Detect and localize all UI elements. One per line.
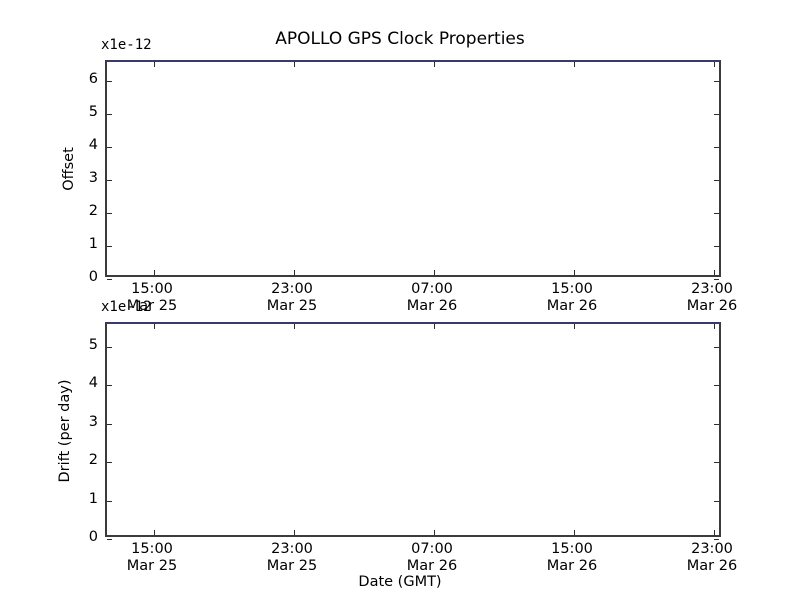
xtick-mark xyxy=(154,530,155,535)
bottom-ytick-label: 2 xyxy=(60,452,98,468)
ytick-mark xyxy=(107,424,112,425)
ytick-mark xyxy=(714,147,719,148)
top-ytick-label: 3 xyxy=(60,170,98,186)
top-ytick-label: 2 xyxy=(60,203,98,219)
ytick-mark xyxy=(714,180,719,181)
bottom-xtick-time: 23:00 xyxy=(267,541,317,558)
ytick-mark xyxy=(714,539,719,540)
xtick-mark xyxy=(434,270,435,275)
top-xtick-label: 23:00 Mar 26 xyxy=(687,281,737,315)
xtick-mark xyxy=(574,62,575,67)
bottom-ytick-label: 1 xyxy=(60,491,98,507)
ytick-mark xyxy=(107,147,112,148)
ytick-mark xyxy=(714,246,719,247)
top-yaxis-offset-text: x1e-12 xyxy=(101,37,152,53)
xtick-mark xyxy=(714,62,715,67)
xtick-mark xyxy=(154,324,155,329)
ytick-mark xyxy=(714,424,719,425)
xtick-mark xyxy=(574,270,575,275)
top-xtick-time: 15:00 xyxy=(127,281,177,298)
bottom-xtick-label: 23:00 Mar 26 xyxy=(687,541,737,575)
bottom-xtick-date: Mar 26 xyxy=(687,558,737,575)
top-xtick-label: 07:00 Mar 26 xyxy=(407,281,457,315)
xtick-mark xyxy=(294,62,295,67)
ytick-mark xyxy=(714,114,719,115)
bottom-xtick-date: Mar 26 xyxy=(547,558,597,575)
top-ytick-label: 5 xyxy=(60,104,98,120)
bottom-ytick-label: 5 xyxy=(60,337,98,353)
xtick-mark xyxy=(154,270,155,275)
xtick-mark xyxy=(294,324,295,329)
ytick-mark xyxy=(107,385,112,386)
ytick-mark xyxy=(107,180,112,181)
bottom-xaxis-label: Date (GMT) xyxy=(0,574,800,590)
ytick-mark xyxy=(107,114,112,115)
bottom-xtick-date: Mar 25 xyxy=(127,558,177,575)
xtick-mark xyxy=(154,62,155,67)
top-xtick-time: 23:00 xyxy=(267,281,317,298)
bottom-xtick-label: 07:00 Mar 26 xyxy=(407,541,457,575)
top-ytick-label: 0 xyxy=(60,269,98,285)
top-xtick-date: Mar 26 xyxy=(687,298,737,315)
xtick-mark xyxy=(434,530,435,535)
ytick-mark xyxy=(714,347,719,348)
ytick-mark xyxy=(714,501,719,502)
ytick-mark xyxy=(107,347,112,348)
xtick-mark xyxy=(294,270,295,275)
matplotlib-figure: APOLLO GPS Clock Properties x1e-12 Offse… xyxy=(0,0,800,600)
ytick-mark xyxy=(714,213,719,214)
top-ytick-label: 4 xyxy=(60,137,98,153)
top-xtick-date: Mar 26 xyxy=(547,298,597,315)
ytick-mark xyxy=(107,462,112,463)
xtick-mark xyxy=(714,324,715,329)
ytick-mark xyxy=(107,81,112,82)
bottom-yaxis-offset-text: x1e-12 xyxy=(101,299,152,315)
ytick-mark xyxy=(107,501,112,502)
bottom-xtick-label: 15:00 Mar 26 xyxy=(547,541,597,575)
xtick-mark xyxy=(434,324,435,329)
bottom-xtick-time: 15:00 xyxy=(127,541,177,558)
top-xtick-time: 07:00 xyxy=(407,281,457,298)
ytick-mark xyxy=(714,385,719,386)
bottom-ytick-label: 4 xyxy=(60,375,98,391)
top-ytick-label: 1 xyxy=(60,236,98,252)
bottom-plot-area[interactable] xyxy=(105,322,721,537)
bottom-xtick-date: Mar 26 xyxy=(407,558,457,575)
xtick-mark xyxy=(574,530,575,535)
ytick-mark xyxy=(714,279,719,280)
ytick-mark xyxy=(714,81,719,82)
top-xtick-label: 23:00 Mar 25 xyxy=(267,281,317,315)
top-xtick-time: 15:00 xyxy=(547,281,597,298)
ytick-mark xyxy=(107,539,112,540)
top-ytick-label: 6 xyxy=(60,71,98,87)
bottom-ytick-label: 0 xyxy=(60,529,98,545)
xtick-mark xyxy=(434,62,435,67)
ytick-mark xyxy=(107,213,112,214)
bottom-ytick-label: 3 xyxy=(60,414,98,430)
bottom-xtick-label: 23:00 Mar 25 xyxy=(267,541,317,575)
ytick-mark xyxy=(107,246,112,247)
top-xtick-date: Mar 25 xyxy=(267,298,317,315)
xtick-mark xyxy=(714,530,715,535)
xtick-mark xyxy=(574,324,575,329)
bottom-xtick-date: Mar 25 xyxy=(267,558,317,575)
bottom-xtick-label: 15:00 Mar 25 xyxy=(127,541,177,575)
top-xtick-label: 15:00 Mar 26 xyxy=(547,281,597,315)
ytick-mark xyxy=(107,279,112,280)
ytick-mark xyxy=(714,462,719,463)
top-plot-area[interactable] xyxy=(105,60,721,277)
bottom-xtick-time: 23:00 xyxy=(687,541,737,558)
xtick-mark xyxy=(714,270,715,275)
xtick-mark xyxy=(294,530,295,535)
top-xtick-time: 23:00 xyxy=(687,281,737,298)
bottom-xtick-time: 15:00 xyxy=(547,541,597,558)
bottom-xtick-time: 07:00 xyxy=(407,541,457,558)
top-xtick-date: Mar 26 xyxy=(407,298,457,315)
